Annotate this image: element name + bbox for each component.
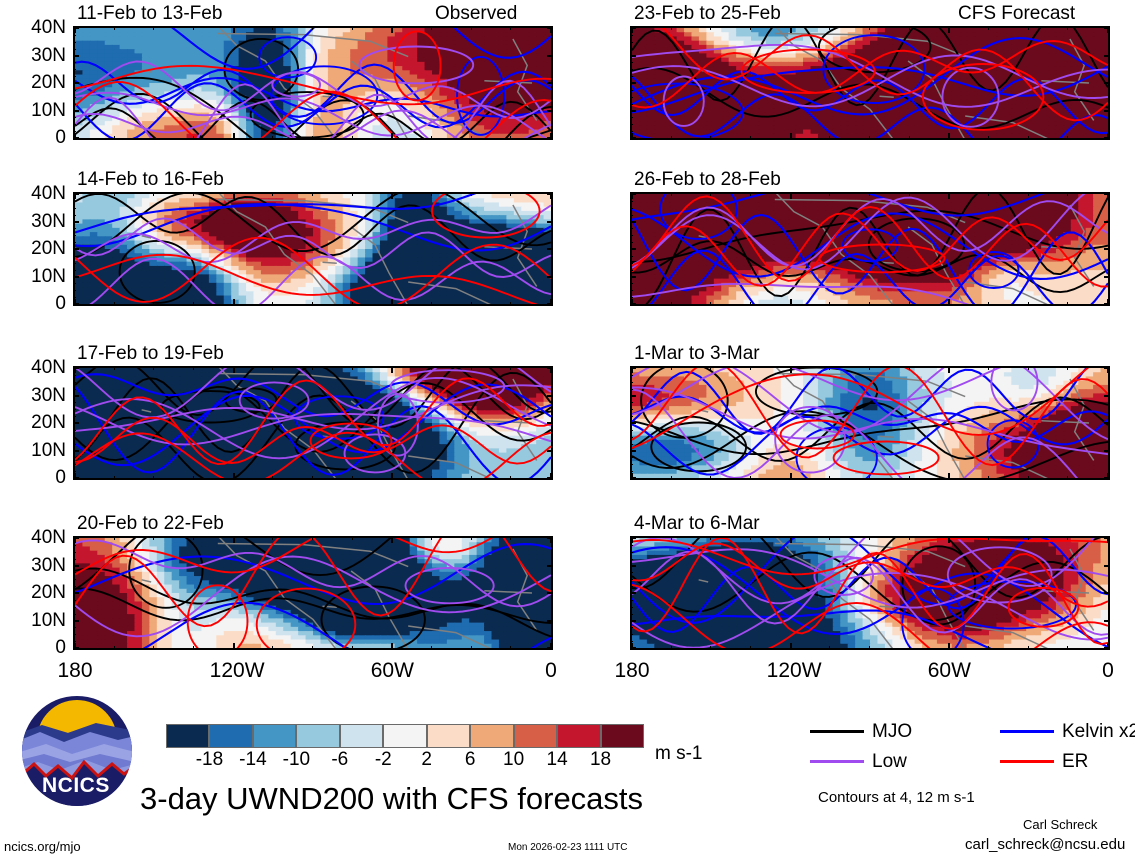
y-minor-tick (73, 215, 76, 216)
y-minor-tick (73, 208, 76, 209)
x-tick (909, 26, 910, 30)
x-axis-label: 0 (1084, 660, 1132, 681)
x-tick (114, 192, 115, 196)
x-tick (631, 26, 633, 33)
x-tick (790, 366, 792, 373)
y-minor-tick (630, 545, 633, 546)
x-tick (710, 192, 711, 196)
x-tick (948, 299, 950, 306)
x-tick (471, 26, 472, 30)
y-minor-tick (630, 593, 633, 594)
colorbar-segment (427, 724, 470, 748)
y-minor-tick (630, 228, 633, 229)
x-tick (750, 646, 751, 650)
x-tick (352, 366, 353, 370)
y-tick (1104, 248, 1110, 250)
x-tick (510, 192, 511, 196)
x-axis-label: 120W (767, 660, 815, 681)
x-tick (869, 536, 870, 540)
x-tick (510, 646, 511, 650)
y-minor-tick (630, 641, 633, 642)
y-axis-label: 40N (0, 18, 66, 37)
y-axis-label: 10N (0, 611, 66, 630)
x-tick (193, 536, 194, 540)
footer-website: ncics.org/mjo (4, 840, 81, 853)
x-tick (114, 366, 115, 370)
x-tick (1107, 366, 1109, 373)
x-tick (550, 192, 552, 199)
y-axis-label: 30N (0, 556, 66, 575)
x-tick (193, 136, 194, 140)
x-tick (671, 476, 672, 480)
y-minor-tick (73, 249, 76, 250)
x-tick (233, 643, 235, 650)
x-tick (750, 536, 751, 540)
x-tick (631, 473, 633, 480)
x-tick (114, 476, 115, 480)
y-minor-tick (630, 290, 633, 291)
x-tick (710, 476, 711, 480)
x-tick (233, 366, 235, 373)
y-tick (547, 422, 553, 424)
x-tick (909, 136, 910, 140)
x-tick (1067, 136, 1068, 140)
x-tick (431, 302, 432, 306)
map-panel-1 (73, 26, 553, 140)
colorbar-segment (296, 724, 339, 748)
x-tick (671, 136, 672, 140)
column-header-left: Observed (435, 4, 517, 23)
x-tick (829, 192, 830, 196)
x-axis-label: 180 (51, 660, 99, 681)
x-tick (948, 192, 950, 199)
x-tick (790, 536, 792, 543)
y-axis-label: 30N (0, 212, 66, 231)
x-tick (114, 302, 115, 306)
x-tick (153, 536, 154, 540)
y-axis-label: 40N (0, 528, 66, 547)
colorbar (166, 724, 644, 748)
x-tick (312, 536, 313, 540)
x-tick (352, 476, 353, 480)
x-tick (153, 136, 154, 140)
colorbar-segment (340, 724, 383, 748)
x-tick (710, 646, 711, 650)
x-tick (1067, 476, 1068, 480)
x-axis-label: 0 (527, 660, 575, 681)
panel-title-7: 1-Mar to 3-Mar (634, 344, 760, 363)
y-minor-tick (73, 586, 76, 587)
x-tick (671, 536, 672, 540)
colorbar-tick-label: 6 (448, 750, 492, 769)
legend-label-kelvin-x2: Kelvin x2 (1062, 722, 1135, 741)
y-minor-tick (73, 572, 76, 573)
x-axis-label: 120W (210, 660, 258, 681)
y-minor-tick (73, 131, 76, 132)
y-minor-tick (73, 375, 76, 376)
x-tick (829, 26, 830, 30)
legend-line-kelvin-x2 (1000, 730, 1054, 733)
y-minor-tick (630, 76, 633, 77)
y-minor-tick (630, 416, 633, 417)
x-tick (352, 536, 353, 540)
x-tick (391, 133, 393, 140)
y-minor-tick (73, 457, 76, 458)
footer-timestamp: Mon 2026-02-23 1111 UTC (508, 843, 628, 853)
x-tick (750, 26, 751, 30)
x-tick (988, 302, 989, 306)
y-axis-label: 30N (0, 46, 66, 65)
x-tick (550, 536, 552, 543)
x-tick (948, 26, 950, 33)
x-tick (272, 646, 273, 650)
y-minor-tick (73, 235, 76, 236)
panel-title-3: 17-Feb to 19-Feb (77, 344, 224, 363)
x-tick (1107, 299, 1109, 306)
x-tick (1107, 26, 1109, 33)
y-tick (547, 82, 553, 84)
x-tick (74, 26, 76, 33)
x-tick (193, 26, 194, 30)
y-minor-tick (73, 614, 76, 615)
y-minor-tick (73, 409, 76, 410)
x-tick (1067, 366, 1068, 370)
x-tick (153, 476, 154, 480)
y-tick (547, 395, 553, 397)
y-minor-tick (73, 430, 76, 431)
x-tick (431, 366, 432, 370)
y-axis-label: 10N (0, 101, 66, 120)
y-minor-tick (73, 97, 76, 98)
x-tick (114, 26, 115, 30)
y-minor-tick (73, 270, 76, 271)
x-tick (988, 136, 989, 140)
x-tick (1028, 646, 1029, 650)
x-tick (272, 136, 273, 140)
y-minor-tick (630, 297, 633, 298)
y-minor-tick (630, 457, 633, 458)
column-header-right: CFS Forecast (958, 4, 1075, 23)
y-minor-tick (73, 464, 76, 465)
y-minor-tick (73, 545, 76, 546)
panel-title-5: 23-Feb to 25-Feb (634, 4, 781, 23)
y-tick (1104, 450, 1110, 452)
y-minor-tick (73, 62, 76, 63)
y-minor-tick (73, 382, 76, 383)
x-tick (471, 136, 472, 140)
x-tick (74, 536, 76, 543)
x-tick (1028, 366, 1029, 370)
main-title: 3-day UWND200 with CFS forecasts (140, 783, 643, 814)
colorbar-tick-label: 2 (405, 750, 449, 769)
x-tick (1028, 136, 1029, 140)
x-tick (909, 536, 910, 540)
x-tick (829, 366, 830, 370)
y-axis-label: 20N (0, 239, 66, 258)
x-tick (193, 192, 194, 196)
x-tick (869, 192, 870, 196)
y-minor-tick (73, 552, 76, 553)
y-tick (1104, 55, 1110, 57)
y-minor-tick (630, 552, 633, 553)
y-minor-tick (630, 423, 633, 424)
x-tick (948, 536, 950, 543)
colorbar-segment (253, 724, 296, 748)
y-minor-tick (630, 444, 633, 445)
y-minor-tick (630, 464, 633, 465)
x-tick (431, 136, 432, 140)
y-minor-tick (73, 42, 76, 43)
x-tick (869, 366, 870, 370)
x-tick (1067, 302, 1068, 306)
map-panel-5 (630, 26, 1110, 140)
y-axis-label: 0 (0, 294, 66, 313)
x-tick (1028, 26, 1029, 30)
y-minor-tick (630, 124, 633, 125)
x-axis-label: 60W (925, 660, 973, 681)
x-tick (193, 476, 194, 480)
y-minor-tick (630, 471, 633, 472)
y-tick (547, 276, 553, 278)
y-minor-tick (630, 430, 633, 431)
x-tick (272, 26, 273, 30)
x-tick (510, 136, 511, 140)
x-tick (510, 366, 511, 370)
x-tick (550, 473, 552, 480)
x-tick (510, 536, 511, 540)
y-tick (1104, 82, 1110, 84)
y-axis-label: 40N (0, 358, 66, 377)
panel-title-4: 20-Feb to 22-Feb (77, 514, 224, 533)
x-tick (869, 136, 870, 140)
x-tick (74, 133, 76, 140)
y-axis-label: 0 (0, 638, 66, 657)
legend-line-er (1000, 760, 1054, 763)
y-minor-tick (630, 621, 633, 622)
y-minor-tick (73, 104, 76, 105)
x-tick (272, 536, 273, 540)
map-panel-6 (630, 192, 1110, 306)
x-tick (352, 302, 353, 306)
y-minor-tick (73, 579, 76, 580)
x-tick (74, 366, 76, 373)
y-minor-tick (630, 437, 633, 438)
x-tick (1067, 646, 1068, 650)
y-minor-tick (73, 641, 76, 642)
x-tick (153, 646, 154, 650)
x-tick (631, 366, 633, 373)
x-tick (391, 192, 393, 199)
x-tick (750, 476, 751, 480)
y-minor-tick (630, 90, 633, 91)
map-panel-2 (73, 192, 553, 306)
x-tick (352, 136, 353, 140)
y-minor-tick (73, 396, 76, 397)
y-tick (547, 221, 553, 223)
x-tick (829, 302, 830, 306)
x-tick (1107, 643, 1109, 650)
y-minor-tick (630, 56, 633, 57)
x-tick (631, 643, 633, 650)
x-tick (829, 536, 830, 540)
legend-label-low: Low (872, 752, 907, 771)
y-minor-tick (73, 423, 76, 424)
colorbar-segment (514, 724, 557, 748)
y-tick (1104, 422, 1110, 424)
y-minor-tick (630, 208, 633, 209)
x-tick (312, 646, 313, 650)
x-tick (869, 476, 870, 480)
y-minor-tick (73, 201, 76, 202)
y-minor-tick (630, 215, 633, 216)
x-tick (431, 26, 432, 30)
x-tick (1028, 536, 1029, 540)
y-minor-tick (73, 277, 76, 278)
y-axis-label: 0 (0, 128, 66, 147)
x-tick (233, 133, 235, 140)
y-tick (547, 450, 553, 452)
y-minor-tick (73, 600, 76, 601)
y-minor-tick (630, 35, 633, 36)
y-minor-tick (630, 235, 633, 236)
y-tick (1104, 395, 1110, 397)
y-minor-tick (630, 270, 633, 271)
x-tick (272, 302, 273, 306)
x-axis-label: 60W (368, 660, 416, 681)
legend-line-mjo (810, 730, 864, 733)
x-tick (550, 26, 552, 33)
x-tick (790, 299, 792, 306)
y-minor-tick (73, 566, 76, 567)
contour-note: Contours at 4, 12 m s-1 (818, 790, 975, 805)
y-minor-tick (630, 409, 633, 410)
x-tick (510, 476, 511, 480)
x-tick (352, 192, 353, 196)
y-axis-label: 10N (0, 267, 66, 286)
x-tick (1028, 192, 1029, 196)
y-minor-tick (73, 117, 76, 118)
colorbar-segment (601, 724, 644, 748)
y-minor-tick (73, 111, 76, 112)
x-tick (909, 302, 910, 306)
y-minor-tick (630, 396, 633, 397)
x-tick (671, 192, 672, 196)
y-minor-tick (630, 451, 633, 452)
x-tick (471, 192, 472, 196)
x-tick (710, 136, 711, 140)
y-minor-tick (73, 290, 76, 291)
x-tick (153, 26, 154, 30)
x-tick (153, 192, 154, 196)
x-tick (1028, 302, 1029, 306)
colorbar-segment (383, 724, 426, 748)
y-minor-tick (73, 124, 76, 125)
colorbar-segment (470, 724, 513, 748)
map-panel-7 (630, 366, 1110, 480)
y-minor-tick (73, 49, 76, 50)
legend-line-low (810, 760, 864, 763)
x-tick (153, 366, 154, 370)
x-tick (74, 643, 76, 650)
x-tick (790, 192, 792, 199)
y-minor-tick (73, 451, 76, 452)
y-minor-tick (630, 62, 633, 63)
x-tick (510, 302, 511, 306)
colorbar-tick-label: 10 (492, 750, 536, 769)
y-axis-label: 40N (0, 184, 66, 203)
y-minor-tick (630, 375, 633, 376)
y-minor-tick (73, 256, 76, 257)
x-tick (471, 646, 472, 650)
x-tick (153, 302, 154, 306)
x-tick (948, 133, 950, 140)
x-tick (790, 26, 792, 33)
y-tick (1104, 110, 1110, 112)
x-tick (671, 302, 672, 306)
y-minor-tick (73, 297, 76, 298)
logo-text: NCICS (42, 774, 110, 798)
y-minor-tick (73, 607, 76, 608)
legend-label-er: ER (1062, 752, 1088, 771)
y-minor-tick (630, 83, 633, 84)
x-tick (312, 366, 313, 370)
y-minor-tick (630, 42, 633, 43)
x-tick (829, 136, 830, 140)
y-minor-tick (73, 228, 76, 229)
x-tick (710, 366, 711, 370)
x-tick (1107, 192, 1109, 199)
colorbar-segment (557, 724, 600, 748)
y-minor-tick (73, 90, 76, 91)
x-tick (869, 646, 870, 650)
x-tick (471, 302, 472, 306)
y-tick (1104, 221, 1110, 223)
x-tick (233, 26, 235, 33)
y-tick (1104, 565, 1110, 567)
y-minor-tick (630, 242, 633, 243)
y-minor-tick (630, 579, 633, 580)
x-tick (510, 26, 511, 30)
x-tick (233, 536, 235, 543)
y-tick (547, 565, 553, 567)
y-minor-tick (73, 593, 76, 594)
y-minor-tick (73, 76, 76, 77)
colorbar-tick-label: -14 (231, 750, 275, 769)
y-minor-tick (630, 614, 633, 615)
y-minor-tick (630, 201, 633, 202)
y-minor-tick (630, 402, 633, 403)
colorbar-tick-label: -10 (274, 750, 318, 769)
x-tick (352, 26, 353, 30)
colorbar-tick-label: -6 (318, 750, 362, 769)
x-tick (790, 643, 792, 650)
ncics-logo: NCICS (20, 696, 135, 808)
y-minor-tick (630, 131, 633, 132)
x-tick (550, 133, 552, 140)
map-panel-4 (73, 536, 553, 650)
y-tick (547, 620, 553, 622)
x-tick (1067, 536, 1068, 540)
x-tick (909, 476, 910, 480)
x-tick (671, 646, 672, 650)
x-tick (909, 192, 910, 196)
x-tick (391, 536, 393, 543)
x-tick (74, 192, 76, 199)
y-minor-tick (73, 634, 76, 635)
x-tick (988, 192, 989, 196)
x-tick (391, 473, 393, 480)
x-tick (631, 192, 633, 199)
